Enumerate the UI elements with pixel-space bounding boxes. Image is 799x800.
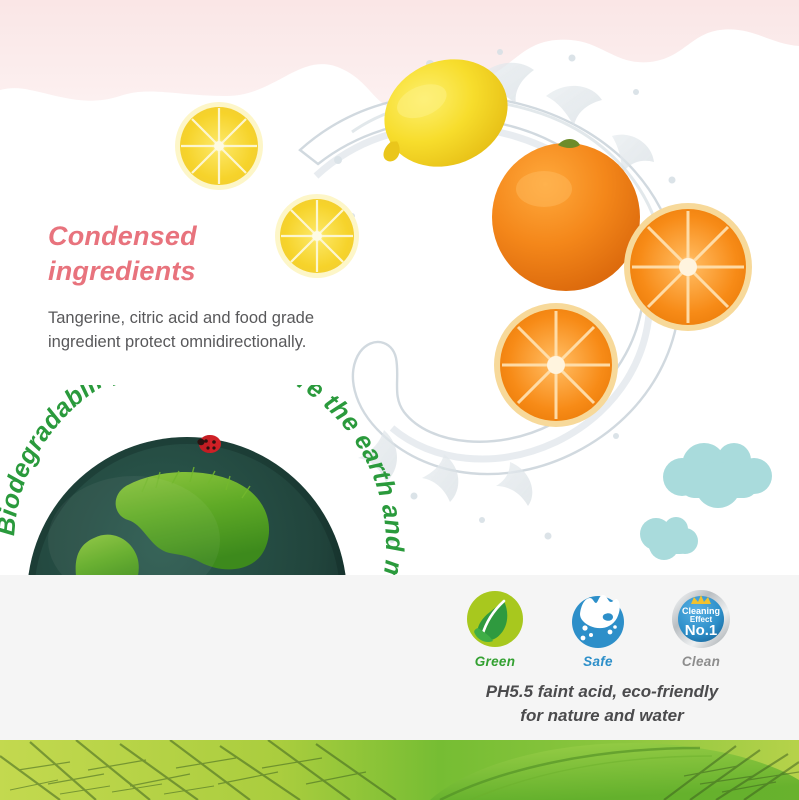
lemon-slice [175,102,263,190]
tagline-line-1: PH5.5 faint acid, eco-friendly [452,680,752,704]
badge-clean[interactable]: Cleaning Effect No.1 Clean [654,588,748,678]
orange-slice [494,303,618,427]
page-title: Condensed ingredients [48,219,368,288]
poster-root: Condensed ingredients Tangerine, citric … [0,0,799,800]
tagline-line-2: for nature and water [452,704,752,728]
badge-safe-label: Safe [583,654,613,669]
feature-badges: Green Safe [448,588,748,678]
headline-line-1: Condensed [48,221,197,251]
aqua-cloud-group [630,440,799,575]
headline-body: Tangerine, citric acid and food grade in… [48,306,368,355]
aqua-cloud-large [663,443,772,508]
headline-line-2: ingredients [48,256,196,286]
badge-green[interactable]: Green [448,588,542,678]
aqua-cloud-small [640,517,698,560]
tagline-block: PH5.5 faint acid, eco-friendly for natur… [452,680,752,728]
badge-green-label: Green [475,654,516,669]
leaf-icon [464,588,526,650]
cleaning-effect-no1-icon: Cleaning Effect No.1 [670,588,732,650]
orange-slice [624,203,752,331]
badge-clean-line3: No.1 [685,622,718,639]
badge-clean-label: Clean [682,654,720,669]
water-drop-icon [567,588,629,650]
green-leaf-texture-strip [0,740,799,800]
headline-block: Condensed ingredients Tangerine, citric … [48,219,368,355]
badge-safe[interactable]: Safe [551,588,645,678]
